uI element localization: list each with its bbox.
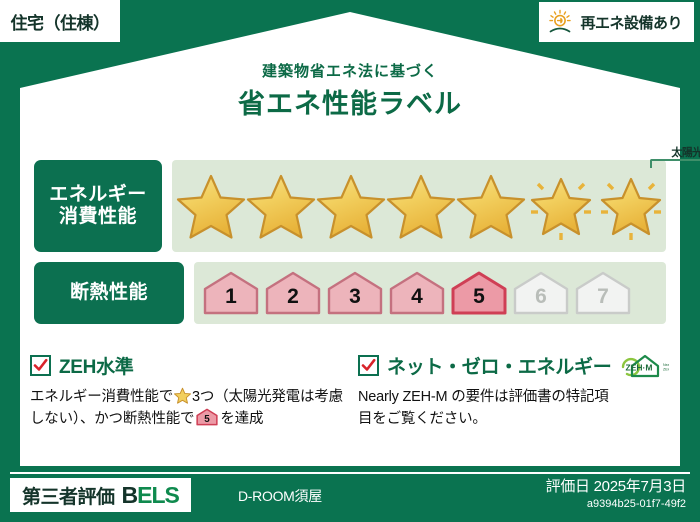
bels-evaluation-badge: 第三者評価 BELS: [10, 478, 191, 512]
bels-logo-els: ELS: [137, 482, 179, 508]
energy-label-line1: エネルギー: [49, 184, 147, 206]
footer-meta: 評価日 2025年7月3日 a9394b25-01f7-49f2: [546, 475, 686, 510]
svg-text:ZEH·M: ZEH·M: [626, 362, 653, 372]
net-zero-heading: ネット・ゼロ・エネルギー ZEH·M Nearly ZEH-M: [358, 352, 678, 379]
zeh-desc-part4: を達成: [220, 411, 263, 427]
net-zero-title: ネット・ゼロ・エネルギー: [387, 352, 611, 379]
star-sparkle-icon: [596, 171, 666, 241]
svg-text:ZEH-M: ZEH-M: [663, 367, 669, 371]
energy-stars-panel: 太陽光発電(自家消費)分: [172, 160, 666, 252]
insulation-level-3: 3: [326, 270, 384, 316]
zeh-desc-part2: 3つ（太陽光発電: [192, 389, 300, 405]
insulation-performance-label: 断熱性能: [34, 262, 184, 324]
building-type-badge: 住宅（住棟）: [0, 0, 120, 42]
insulation-level-number: 2: [287, 286, 299, 316]
insulation-level-7: 7: [574, 270, 632, 316]
zeh-desc-part1: エネルギー消費性能で: [30, 389, 173, 405]
third-party-label: 第三者評価: [22, 482, 115, 509]
star-icon: [246, 171, 316, 241]
renewable-equipment-badge: 再エネ設備あり: [539, 2, 694, 42]
zeh-standard-title: ZEH水準: [59, 352, 134, 379]
sun-solar-icon: [547, 9, 573, 35]
insulation-level-number: 4: [411, 286, 423, 316]
insulation-label-text: 断熱性能: [70, 282, 148, 304]
insulation-level-2: 2: [264, 270, 322, 316]
svg-text:Nearly: Nearly: [663, 363, 669, 367]
energy-performance-label: エネルギー 消費性能: [34, 160, 162, 252]
evaluation-date-label: 評価日: [546, 478, 590, 495]
star-icon: [386, 171, 456, 241]
insulation-level-number: 7: [597, 286, 609, 316]
check-icon: [33, 358, 48, 373]
net-zero-desc-line2: 目をご覧ください。: [358, 408, 678, 430]
energy-star-1: [176, 170, 246, 242]
svg-text:5: 5: [205, 414, 211, 425]
insulation-level-number: 3: [349, 286, 361, 316]
label-id: a9394b25-01f7-49f2: [546, 498, 686, 510]
building-type-label: 住宅（住棟）: [11, 9, 110, 34]
net-zero-energy-section: ネット・ゼロ・エネルギー ZEH·M Nearly ZEH-M Nearly Z…: [358, 352, 678, 431]
insulation-level-number: 6: [535, 286, 547, 316]
energy-star-2: [246, 170, 316, 242]
net-zero-description: Nearly ZEH-M の要件は評価書の特記項 目をご覧ください。: [358, 386, 678, 431]
star-icon: [456, 171, 526, 241]
evaluation-date: 評価日 2025年7月3日: [546, 475, 686, 496]
energy-star-7-solar: [596, 170, 666, 242]
insulation-level-6: 6: [512, 270, 570, 316]
evaluation-date-value: 2025年7月3日: [594, 478, 686, 495]
renewable-equipment-label: 再エネ設備あり: [580, 12, 682, 33]
zeh-check-box: [30, 355, 51, 376]
energy-label-line2: 消費性能: [59, 206, 137, 228]
zeh-m-logo-icon: ZEH·M Nearly ZEH-M: [619, 353, 669, 379]
zeh-standard-description: エネルギー消費性能で3つ（太陽光発電は考慮しない）、かつ断熱性能で5を達成: [30, 386, 350, 431]
solar-contribution-note: 太陽光発電(自家消費)分: [642, 144, 700, 160]
energy-star-4: [386, 170, 456, 242]
insulation-levels-panel: 1 2 3 4 5: [194, 262, 666, 324]
star-icon: [316, 171, 386, 241]
net-zero-desc-line1: Nearly ZEH-M の要件は評価書の特記項: [358, 386, 678, 408]
insulation-level-4: 4: [388, 270, 446, 316]
bels-logo-b: B: [122, 482, 138, 508]
energy-star-5: [456, 170, 526, 242]
inline-house-badge-icon: 5: [196, 408, 218, 426]
check-icon: [361, 358, 376, 373]
energy-star-3: [316, 170, 386, 242]
zeh-standard-heading: ZEH水準: [30, 352, 350, 379]
property-name: D-ROOM須屋: [238, 486, 322, 506]
zeh-standard-section: ZEH水準 エネルギー消費性能で3つ（太陽光発電は考慮しない）、かつ断熱性能で5…: [30, 352, 350, 431]
star-sparkle-icon: [526, 171, 596, 241]
energy-star-6-solar: [526, 170, 596, 242]
solar-contribution-bracket: [650, 159, 700, 168]
insulation-level-1: 1: [202, 270, 260, 316]
inline-star-icon: [174, 387, 191, 404]
insulation-performance-row: 断熱性能 1 2 3 4: [34, 262, 666, 324]
net-zero-check-box: [358, 355, 379, 376]
insulation-level-number: 1: [225, 286, 237, 316]
bels-logo: BELS: [122, 482, 179, 509]
house-outline-shape: [0, 0, 700, 522]
energy-performance-row: エネルギー 消費性能 太陽光発電(自家消費)分: [34, 160, 666, 252]
insulation-level-number: 5: [473, 286, 485, 316]
insulation-level-5-achieved: 5: [450, 270, 508, 316]
star-icon: [176, 171, 246, 241]
footer-divider: [10, 472, 690, 474]
